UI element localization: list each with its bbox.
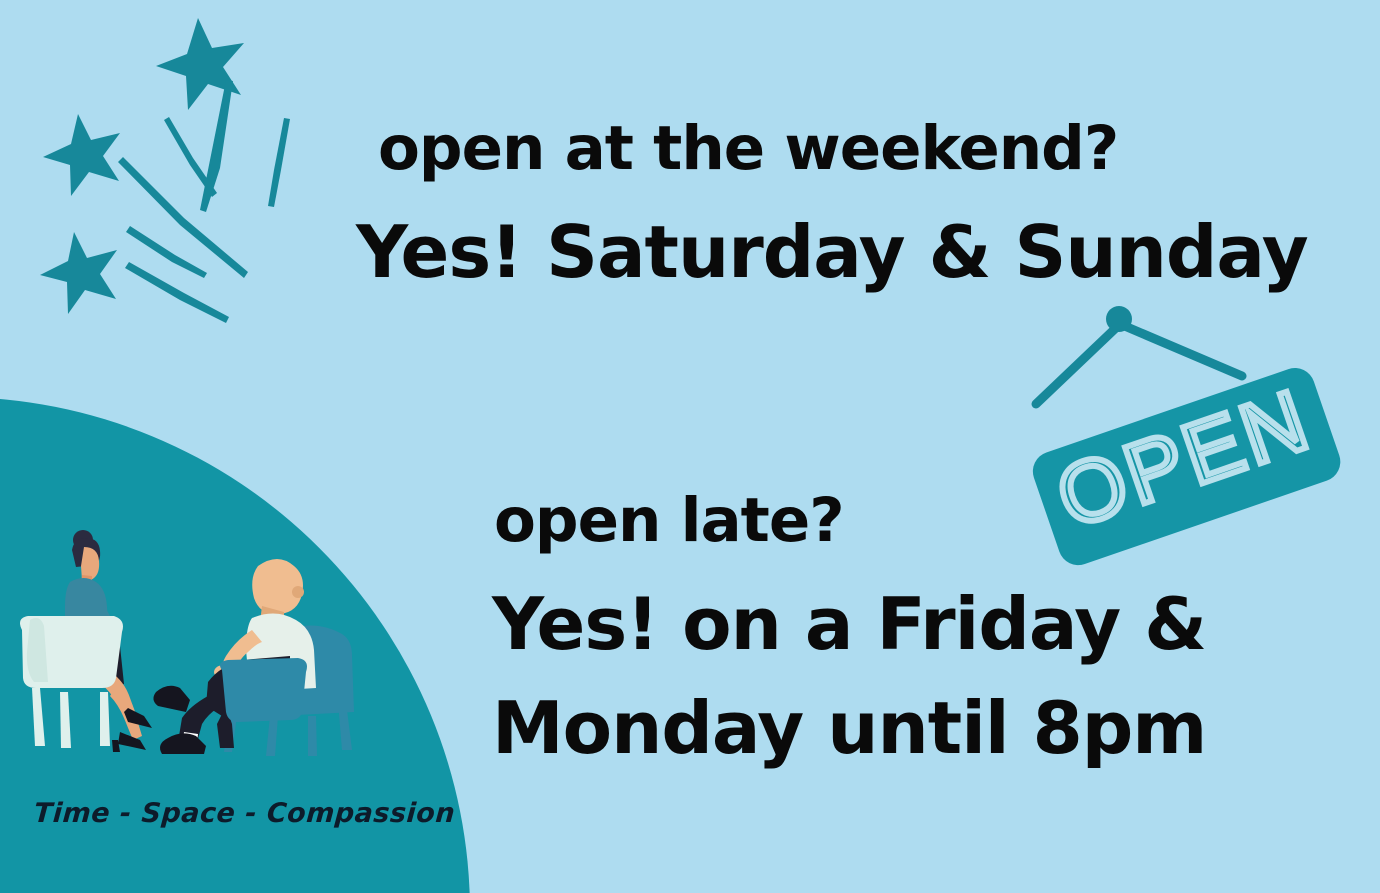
brand-tagline: Time - Space - Compassion [33,798,456,829]
poster-canvas: Time - Space - Compassion open at the we… [0,0,1380,893]
headline-weekend-answer: Yes! Saturday & Sunday [356,216,1308,288]
headline-weekend-question: open at the weekend? [378,118,1118,179]
headline-late-answer-line2: Monday until 8pm [492,692,1206,764]
sign-hanging-strings [1036,324,1242,404]
two-people-in-armchairs-illustration [8,520,378,780]
shooting-stars-icon [30,10,330,340]
sign-hook-dot [1106,306,1132,332]
open-sign: OPEN [1010,300,1360,600]
headline-late-question: open late? [494,490,844,551]
